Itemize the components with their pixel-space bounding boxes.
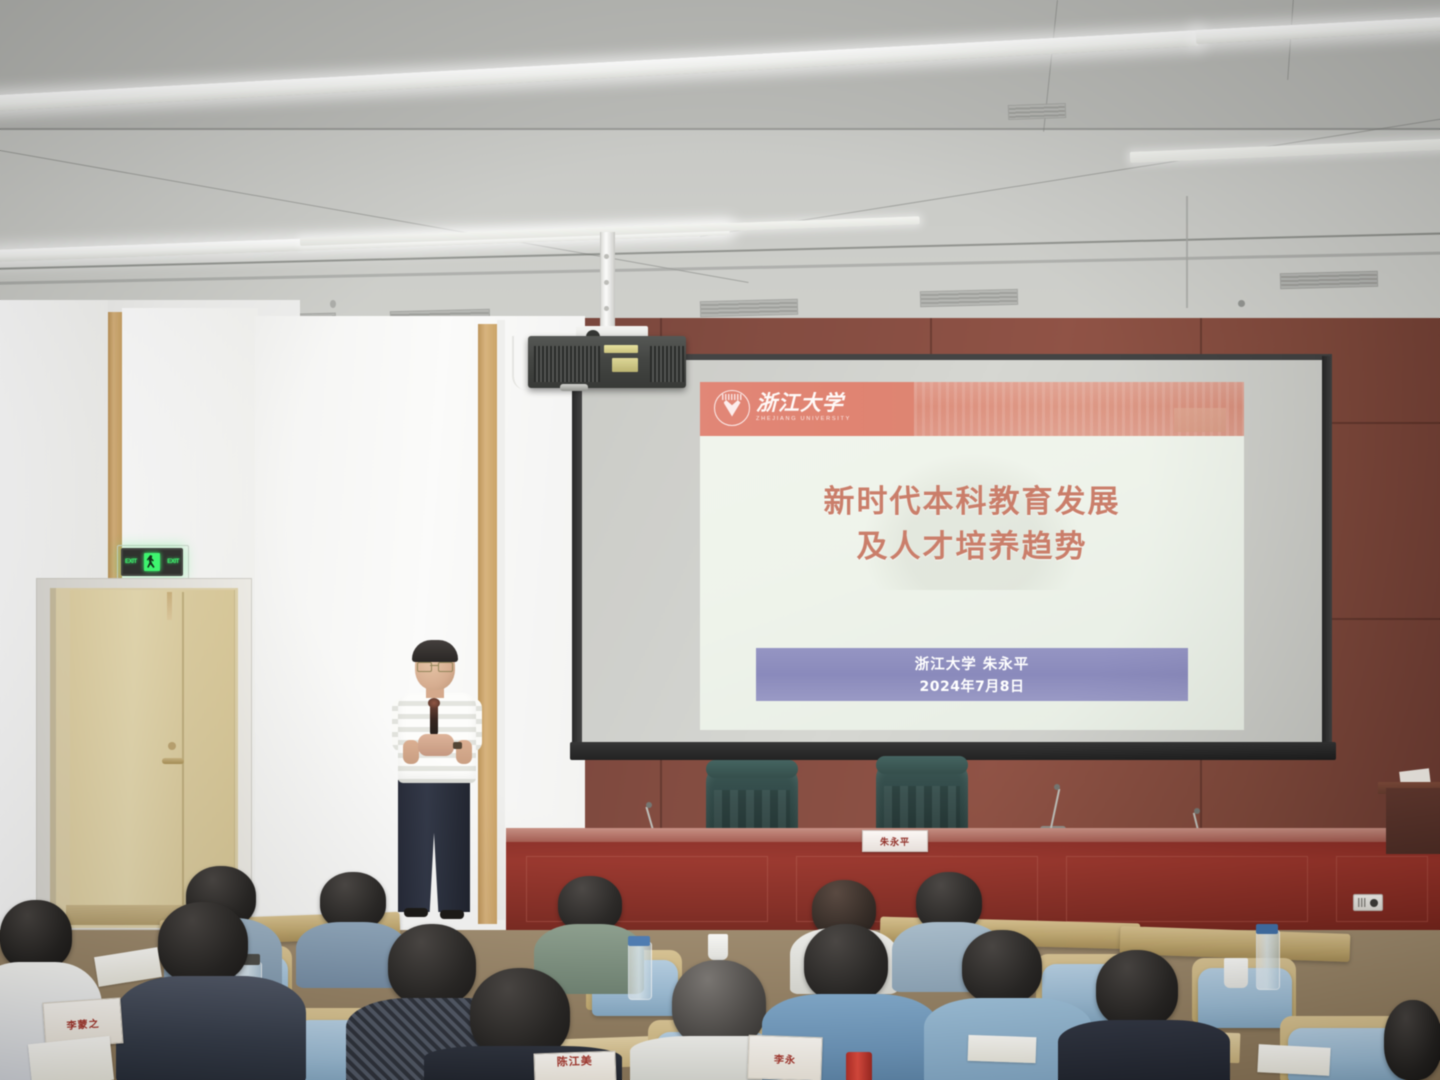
table-microphone-head [1054, 784, 1060, 790]
audience-person [0, 900, 72, 970]
exit-sign: EXIT EXIT [121, 548, 183, 576]
stage-chair-headrest [876, 756, 968, 774]
speaker-hands [418, 734, 454, 756]
slide-date: 2024年7月8日 [920, 676, 1025, 696]
sprinkler-head-icon [330, 300, 336, 308]
paper-cup[interactable] [1224, 958, 1248, 988]
speaker-forearm-left [403, 740, 419, 764]
ceiling-vent [1008, 103, 1066, 120]
ceiling-seam [0, 128, 1440, 130]
stage-nameplate-text: 朱永平 [880, 835, 910, 848]
audience-person [158, 902, 248, 984]
stage-chair-headrest [706, 760, 798, 778]
logo-english-name: ZHEJIANG UNIVERSITY [756, 417, 851, 423]
slide-presenter: 浙江大学 朱永平 [915, 653, 1030, 674]
audience-person [388, 924, 476, 1006]
mount-bolt [604, 280, 609, 285]
notepad[interactable] [28, 1036, 114, 1080]
projector-vent [650, 346, 684, 382]
water-bottle[interactable] [1256, 930, 1280, 990]
screen-right-edge [1322, 356, 1332, 748]
speaker-wristwatch [453, 742, 462, 749]
ceiling-vent [1280, 271, 1378, 289]
audience-person [1384, 1000, 1440, 1080]
door-seam [182, 592, 184, 922]
logo-text: 浙江大学 ZHEJIANG UNIVERSITY [756, 393, 851, 423]
table-microphone-head [1194, 808, 1200, 814]
microphone-head-icon [428, 698, 440, 708]
bottle-cap [628, 936, 650, 946]
projector-vent [534, 346, 600, 382]
smoke-detector-icon [1238, 300, 1245, 307]
audience-person-torso [116, 976, 306, 1080]
projector-label [604, 345, 638, 353]
speaker-shoe [404, 908, 428, 917]
notepad[interactable] [1257, 1044, 1330, 1076]
door-handle[interactable] [162, 758, 184, 764]
projector-label [612, 358, 638, 372]
notepad[interactable] [968, 1035, 1037, 1063]
presentation-slide: 浙江大学 ZHEJIANG UNIVERSITY 新时代本科教育发展 及人才培养… [700, 382, 1244, 730]
audience-namecard: 李永 [747, 1035, 822, 1080]
audience-namecard-text: 李永 [774, 1050, 797, 1066]
wall-column [497, 320, 505, 920]
ceiling-seam [0, 150, 749, 283]
exit-label-right: EXIT [167, 559, 179, 565]
audience-person-torso [1058, 1020, 1230, 1080]
water-bottle[interactable] [628, 942, 652, 1000]
slide-title-line-2: 及人才培养趋势 [700, 525, 1244, 570]
slide-body: 新时代本科教育发展 及人才培养趋势 浙江大学 朱永平 2024年7月8日 [700, 436, 1244, 730]
screen-left-edge [572, 356, 582, 748]
campus-photo-decoration [914, 382, 1244, 436]
eyeglasses-bridge [430, 665, 439, 666]
audience-namecard: 陈江美 [533, 1051, 616, 1080]
slide-title-line-1: 新时代本科教育发展 [700, 480, 1244, 525]
lecture-hall-photo: EXIT EXIT 浙江大学 ZHEJIANG UNIVERSITY [0, 0, 1440, 1080]
audience-person [804, 924, 888, 1002]
strip-light [1130, 138, 1440, 163]
projector-lens-icon [560, 384, 588, 391]
mount-bolt [604, 254, 609, 259]
zju-seal-icon [714, 390, 750, 426]
slide-subtitle-box: 浙江大学 朱永平 2024年7月8日 [756, 648, 1188, 701]
speaker-shoe [440, 910, 464, 919]
door-lock-icon[interactable] [168, 742, 176, 750]
exit-label-left: EXIT [125, 559, 137, 565]
audience-namecard-text: 李蒙之 [66, 1014, 100, 1031]
thermos-flask[interactable] [846, 1052, 872, 1080]
table-microphone-head [646, 802, 652, 808]
ceiling-rail [0, 251, 1440, 285]
audience-namecard-text: 陈江美 [556, 1052, 593, 1069]
door-closer [167, 592, 172, 620]
university-logo: 浙江大学 ZHEJIANG UNIVERSITY [714, 390, 851, 426]
stage-nameplate: 朱永平 [862, 830, 928, 852]
ceiling-vent [920, 289, 1018, 307]
lectern [1386, 788, 1440, 854]
mount-bolt [604, 306, 609, 311]
ceiling-vent [700, 299, 798, 317]
slide-title: 新时代本科教育发展 及人才培养趋势 [700, 480, 1244, 570]
running-man-icon [144, 553, 160, 571]
bottle-cap [1256, 924, 1278, 934]
logo-chinese-name: 浙江大学 [756, 393, 851, 414]
table-panel [1066, 856, 1308, 922]
slide-header-band: 浙江大学 ZHEJIANG UNIVERSITY [700, 382, 1244, 436]
audience-person [962, 930, 1042, 1004]
wall-accent-strip [478, 324, 497, 924]
audience-person [1096, 950, 1178, 1028]
ceiling-hanger [1186, 196, 1188, 308]
paper-cup[interactable] [708, 934, 728, 960]
